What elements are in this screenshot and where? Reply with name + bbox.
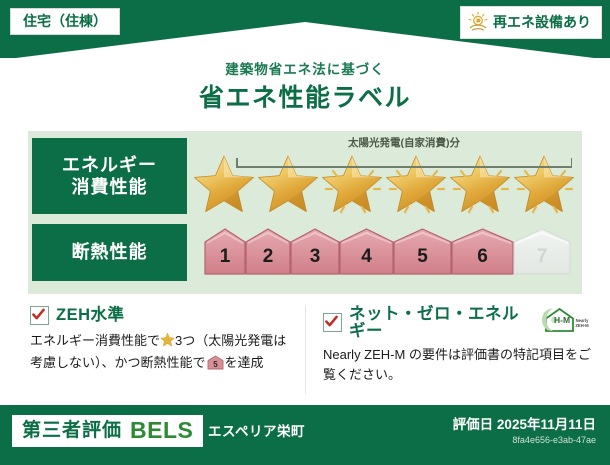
bels-energy-label: 住宅（住棟） 再エネ設備あり 建築物省エネ法に基づく 省エネ性能ラベル xyxy=(0,0,610,465)
bels-certification-box: 第三者評価 BELS xyxy=(12,415,203,447)
criteria-nze-header: ネット・ゼロ・エネルギー H-M Nearly ZEH-M xyxy=(323,306,592,339)
label-title-block: 建築物省エネ法に基づく 省エネ性能ラベル xyxy=(0,58,610,111)
energy-star-rating xyxy=(193,138,578,214)
inline-insulation-chip: 5 xyxy=(207,355,224,376)
criteria-zeh-header: ZEH水準 xyxy=(30,306,291,325)
criteria-net-zero-energy: ネット・ゼロ・エネルギー H-M Nearly ZEH-M Nearly ZEH… xyxy=(305,300,610,402)
performance-panel: エネルギー 消費性能 太陽光発電(自家消費)分 断熱性能 1234567 xyxy=(28,131,582,294)
solar-bracket-caption: 太陽光発電(自家消費)分 xyxy=(236,138,572,149)
checkmark-icon xyxy=(30,306,49,325)
insulation-level-number: 3 xyxy=(310,247,321,278)
insulation-level-chip-5: 5 xyxy=(392,226,453,278)
criteria-divider xyxy=(305,306,306,394)
insulation-level-chip-6: 6 xyxy=(450,226,515,278)
svg-text:5: 5 xyxy=(213,360,218,369)
criteria-zeh-text-1: エネルギー消費性能で xyxy=(30,333,160,348)
criteria-zeh-text-3: を達成 xyxy=(225,355,264,370)
label-footer: 第三者評価 BELS エスペリア栄町 評価日 2025年11月11日 8fa4e… xyxy=(0,405,610,465)
third-party-eval-label: 第三者評価 xyxy=(22,421,122,440)
insulation-level-number: 4 xyxy=(361,247,372,278)
criteria-zeh-standard: ZEH水準 エネルギー消費性能で3つ（太陽光発電は考慮しない）、かつ断熱性能で5… xyxy=(0,300,305,402)
checkmark-icon xyxy=(323,313,342,332)
page-title: 省エネ性能ラベル xyxy=(0,77,610,111)
evaluation-date: 評価日 2025年11月11日 xyxy=(453,418,596,432)
insulation-level-chip-3: 3 xyxy=(289,226,341,278)
svg-text:ZEH-M: ZEH-M xyxy=(575,323,589,328)
solar-bracket-right-cap xyxy=(571,158,573,168)
insulation-label-text: 断熱性能 xyxy=(72,241,148,264)
evaluation-hash: 8fa4e656-e3ab-47ae xyxy=(512,436,596,445)
energy-label-line2: 消費性能 xyxy=(72,176,148,199)
criteria-zeh-title: ZEH水準 xyxy=(56,307,125,324)
insulation-level-chip-1: 1 xyxy=(203,226,247,278)
insulation-level-number: 6 xyxy=(477,247,488,278)
insulation-level-number: 5 xyxy=(417,247,428,278)
house-type-tag-label: 住宅（住棟） xyxy=(23,13,107,29)
bels-wordmark: BELS xyxy=(130,419,193,442)
energy-consumption-row: エネルギー 消費性能 太陽光発電(自家消費)分 xyxy=(28,138,582,214)
zeh-m-logo-icon: H-M Nearly ZEH-M xyxy=(540,306,592,339)
insulation-performance-row: 断熱性能 1234567 xyxy=(28,224,582,281)
criteria-zeh-body: エネルギー消費性能で3つ（太陽光発電は考慮しない）、かつ断熱性能で5を達成 xyxy=(30,331,291,376)
insulation-level-number: 7 xyxy=(537,247,548,278)
criteria-nze-title: ネット・ゼロ・エネルギー xyxy=(349,306,529,339)
insulation-level-chip-4: 4 xyxy=(338,226,395,278)
renewable-equipment-badge: 再エネ設備あり xyxy=(460,6,602,39)
inline-star-icon xyxy=(160,332,175,353)
criteria-nze-body: Nearly ZEH-M の要件は評価書の特記項目をご覧ください。 xyxy=(323,345,592,385)
insulation-performance-label: 断熱性能 xyxy=(32,224,187,281)
renewable-badge-label: 再エネ設備あり xyxy=(493,15,591,29)
insulation-level-scale: 1234567 xyxy=(193,224,578,281)
insulation-level-chip-7: 7 xyxy=(512,226,572,278)
insulation-level-number: 2 xyxy=(263,247,274,278)
building-name: エスペリア栄町 xyxy=(208,425,305,439)
house-type-tag: 住宅（住棟） xyxy=(10,8,120,35)
svg-text:H-M: H-M xyxy=(554,315,570,325)
energy-consumption-label: エネルギー 消費性能 xyxy=(32,138,187,214)
title-subtitle: 建築物省エネ法に基づく xyxy=(0,58,610,77)
insulation-level-chip-2: 2 xyxy=(244,226,292,278)
energy-label-line1: エネルギー xyxy=(62,154,157,177)
solar-bracket-line xyxy=(236,166,572,168)
solar-bracket xyxy=(236,154,572,168)
insulation-level-number: 1 xyxy=(220,247,231,278)
sun-renewable-icon xyxy=(467,11,489,33)
